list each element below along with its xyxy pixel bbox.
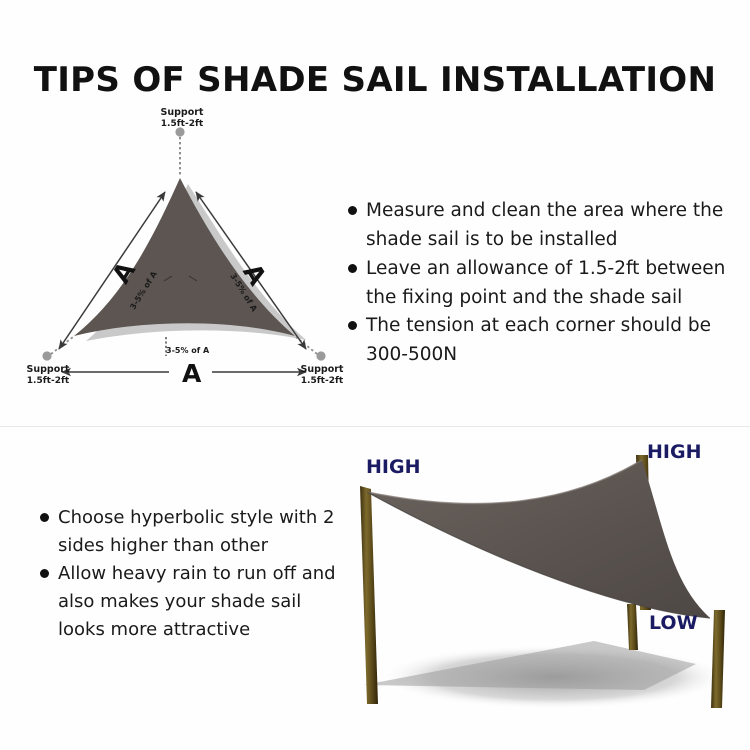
post-front-right [711,610,725,708]
list-item: Choose hyperbolic style with 2 sides hig… [40,504,352,560]
tips-list-bottom: Choose hyperbolic style with 2 sides hig… [40,504,352,644]
page-title: TIPS OF SHADE SAIL INSTALLATION [0,60,750,100]
support-label-top-measurement: 1.5ft-2ft [161,119,203,129]
support-label-top-name: Support [161,107,204,118]
tip-text: Leave an allowance of 1.5-2ft between th… [366,255,736,313]
corner-label-high-right: HIGH [647,441,701,463]
tip-text: Allow heavy rain to run off and also mak… [58,560,352,644]
list-item: Measure and clean the area where the sha… [348,197,736,255]
corner-label-high-left: HIGH [366,456,420,478]
support-label-top: Support 1.5ft-2ft [152,108,212,129]
support-label-bottom-right: Support 1.5ft-2ft [291,365,353,386]
support-label-bottom-right-measurement: 1.5ft-2ft [301,376,343,386]
corner-label-low: LOW [649,612,698,634]
support-label-bottom-right-name: Support [301,364,344,375]
anchor-point-bottom-right [316,351,325,360]
tip-text: The tension at each corner should be 300… [366,312,736,370]
bullet-icon [348,206,357,215]
tip-text: Measure and clean the area where the sha… [366,197,736,255]
post-middle-low [627,604,638,650]
infographic-page: TIPS OF SHADE SAIL INSTALLATION [0,0,750,750]
tip-text: Choose hyperbolic style with 2 sides hig… [58,504,352,560]
support-label-bottom-left-measurement: 1.5ft-2ft [27,376,69,386]
triangle-shade-sail-diagram: Support 1.5ft-2ft Support 1.5ft-2ft Supp… [14,110,344,410]
list-item: Allow heavy rain to run off and also mak… [40,560,352,644]
anchor-point-bottom-left [42,351,51,360]
support-label-bottom-left: Support 1.5ft-2ft [17,365,79,386]
list-item: Leave an allowance of 1.5-2ft between th… [348,255,736,313]
dimension-label-bottom-a: A [182,359,201,388]
list-item: The tension at each corner should be 300… [348,312,736,370]
triangle-sail-body [74,178,295,336]
support-label-bottom-left-name: Support [27,364,70,375]
bullet-icon [40,513,49,522]
section-divider [0,426,750,427]
bullet-icon [348,321,357,330]
bullet-icon [40,569,49,578]
hyperbolic-shade-sail-diagram: HIGH HIGH LOW [344,432,746,724]
bullet-icon [348,264,357,273]
sag-note-bottom: 3-5% of A [166,346,209,355]
tips-list-top: Measure and clean the area where the sha… [348,197,736,370]
post-back-left [360,486,378,704]
hyperbolic-sail-body [367,460,710,618]
